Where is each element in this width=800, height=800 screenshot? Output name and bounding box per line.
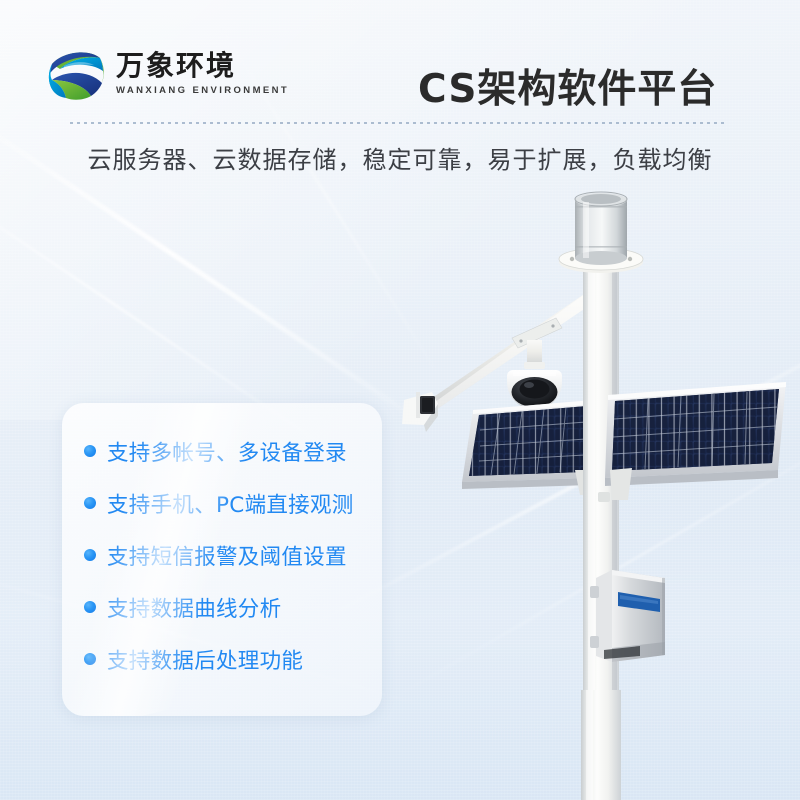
bullet-icon: [84, 601, 96, 613]
feature-list: 支持多帐号、多设备登录 支持手机、PC端直接观测 支持短信报警及阈值设置 支持数…: [62, 403, 382, 716]
bullet-icon: [84, 549, 96, 561]
brand-name-en: WANXIANG ENVIRONMENT: [116, 85, 289, 96]
brand-name-cn: 万象环境: [116, 50, 289, 81]
dotted-divider: [70, 122, 728, 124]
brand-logo: 万象环境 WANXIANG ENVIRONMENT: [44, 42, 289, 104]
feature-label: 支持多帐号、多设备登录: [107, 436, 347, 467]
globe-swirl-logo-icon: [44, 42, 106, 104]
bullet-icon: [84, 497, 96, 509]
bullet-icon: [84, 653, 96, 665]
list-item: 支持数据后处理功能: [62, 633, 382, 685]
bullet-icon: [84, 445, 96, 457]
page-header: 万象环境 WANXIANG ENVIRONMENT CS架构软件平台: [0, 0, 800, 118]
brand-logo-text: 万象环境 WANXIANG ENVIRONMENT: [116, 50, 289, 95]
list-item: 支持多帐号、多设备登录: [62, 425, 382, 477]
list-item: 支持数据曲线分析: [62, 581, 382, 633]
feature-label: 支持数据曲线分析: [107, 592, 281, 623]
page-subtitle: 云服务器、云数据存储，稳定可靠，易于扩展，负载均衡: [0, 140, 800, 175]
feature-label: 支持手机、PC端直接观测: [107, 488, 354, 519]
list-item: 支持短信报警及阈值设置: [62, 529, 382, 581]
list-item: 支持手机、PC端直接观测: [62, 477, 382, 529]
page-title: CS架构软件平台: [418, 58, 778, 114]
feature-label: 支持数据后处理功能: [107, 644, 303, 675]
feature-label: 支持短信报警及阈值设置: [107, 540, 347, 571]
poster-root: 万象环境 WANXIANG ENVIRONMENT CS架构软件平台 云服务器、…: [0, 0, 800, 800]
feature-card: 支持多帐号、多设备登录 支持手机、PC端直接观测 支持短信报警及阈值设置 支持数…: [62, 403, 382, 716]
